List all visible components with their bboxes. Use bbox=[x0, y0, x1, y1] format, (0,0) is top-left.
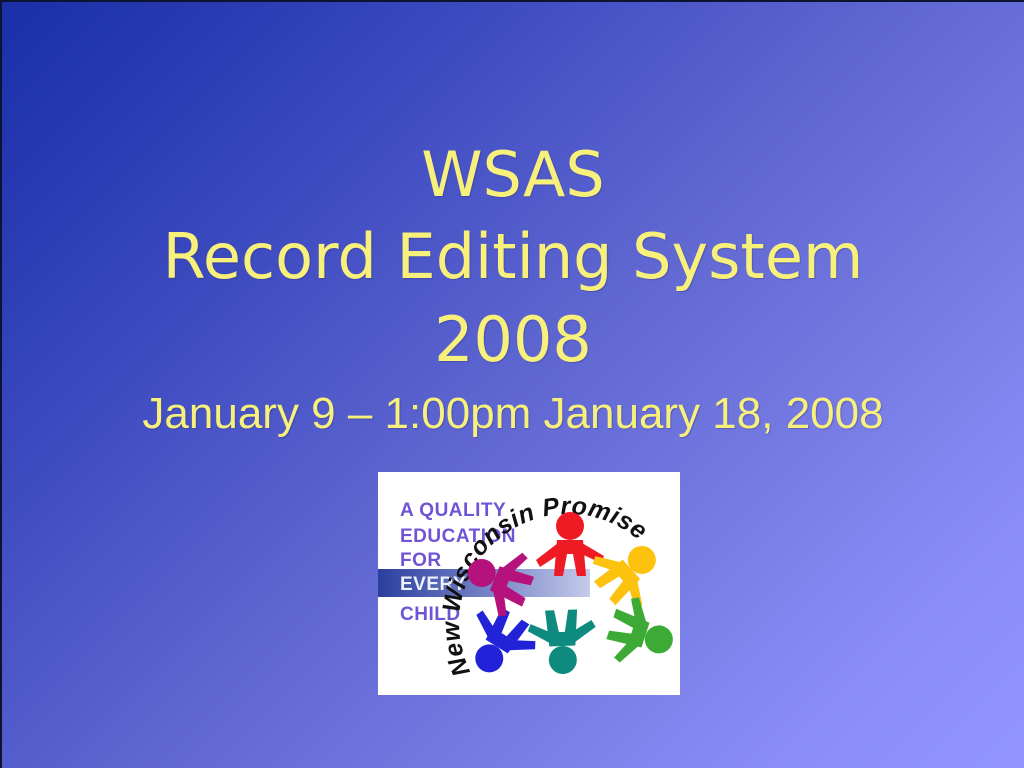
new-wisconsin-promise-logo: A QUALITY EDUCATION FOR EVERY CHILD New … bbox=[378, 472, 680, 695]
logo-artwork: A QUALITY EDUCATION FOR EVERY CHILD New … bbox=[378, 472, 680, 695]
tagline-line-1: A QUALITY bbox=[400, 500, 506, 521]
tagline-line-3: FOR bbox=[400, 550, 442, 571]
title-line-3: 2008 bbox=[2, 299, 1024, 381]
title-line-1: WSAS bbox=[2, 134, 1024, 216]
subtitle-date-range: January 9 – 1:00pm January 18, 2008 bbox=[2, 390, 1024, 438]
page-title: WSAS Record Editing System 2008 bbox=[2, 134, 1024, 381]
title-line-2: Record Editing System bbox=[2, 216, 1024, 298]
presentation-slide: WSAS Record Editing System 2008 January … bbox=[0, 0, 1024, 768]
